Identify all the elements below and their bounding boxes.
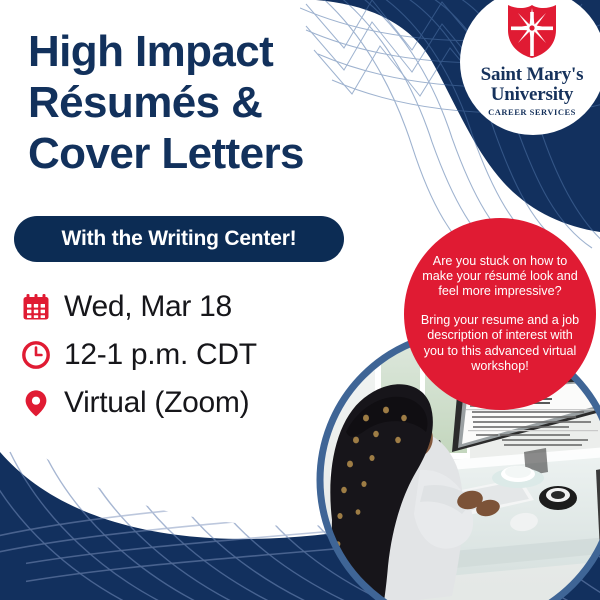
logo-name-line-2: University [491,85,573,105]
callout-paragraph-1: Are you stuck on how to make your résumé… [422,254,577,299]
detail-location-text: Virtual (Zoom) [58,386,249,420]
shield-starburst-icon [506,2,558,65]
detail-row-date: Wed, Mar 18 [14,283,257,331]
title-line-1: High Impact [28,26,408,77]
detail-date-text: Wed, Mar 18 [58,290,232,324]
writing-center-badge: With the Writing Center! [14,216,344,262]
event-details-list: Wed, Mar 18 12-1 p.m. CDT Virtual (Zoom) [14,283,257,427]
clock-icon [14,333,58,377]
callout-paragraph-2: Bring your resume and a job description … [421,313,579,373]
logo-department-label: CAREER SERVICES [488,107,576,117]
title-line-3: Cover Letters [28,128,408,179]
detail-row-time: 12-1 p.m. CDT [14,331,257,379]
detail-row-location: Virtual (Zoom) [14,379,257,427]
detail-time-text: 12-1 p.m. CDT [58,338,257,372]
title-line-2: Résumés & [28,77,408,128]
callout-circle: Are you stuck on how to make your résumé… [404,218,596,410]
location-pin-icon [14,381,58,425]
page-title: High Impact Résumés & Cover Letters [28,26,408,179]
university-logo: Saint Mary's University CAREER SERVICES [470,2,594,126]
bottom-left-tab [0,560,26,600]
desk-object [539,486,577,510]
poster-canvas: High Impact Résumés & Cover Letters With… [0,0,600,600]
writing-center-badge-label: With the Writing Center! [62,227,297,251]
logo-name-line-1: Saint Mary's [481,65,584,85]
calendar-icon [14,285,58,329]
callout-spacer [416,300,584,313]
